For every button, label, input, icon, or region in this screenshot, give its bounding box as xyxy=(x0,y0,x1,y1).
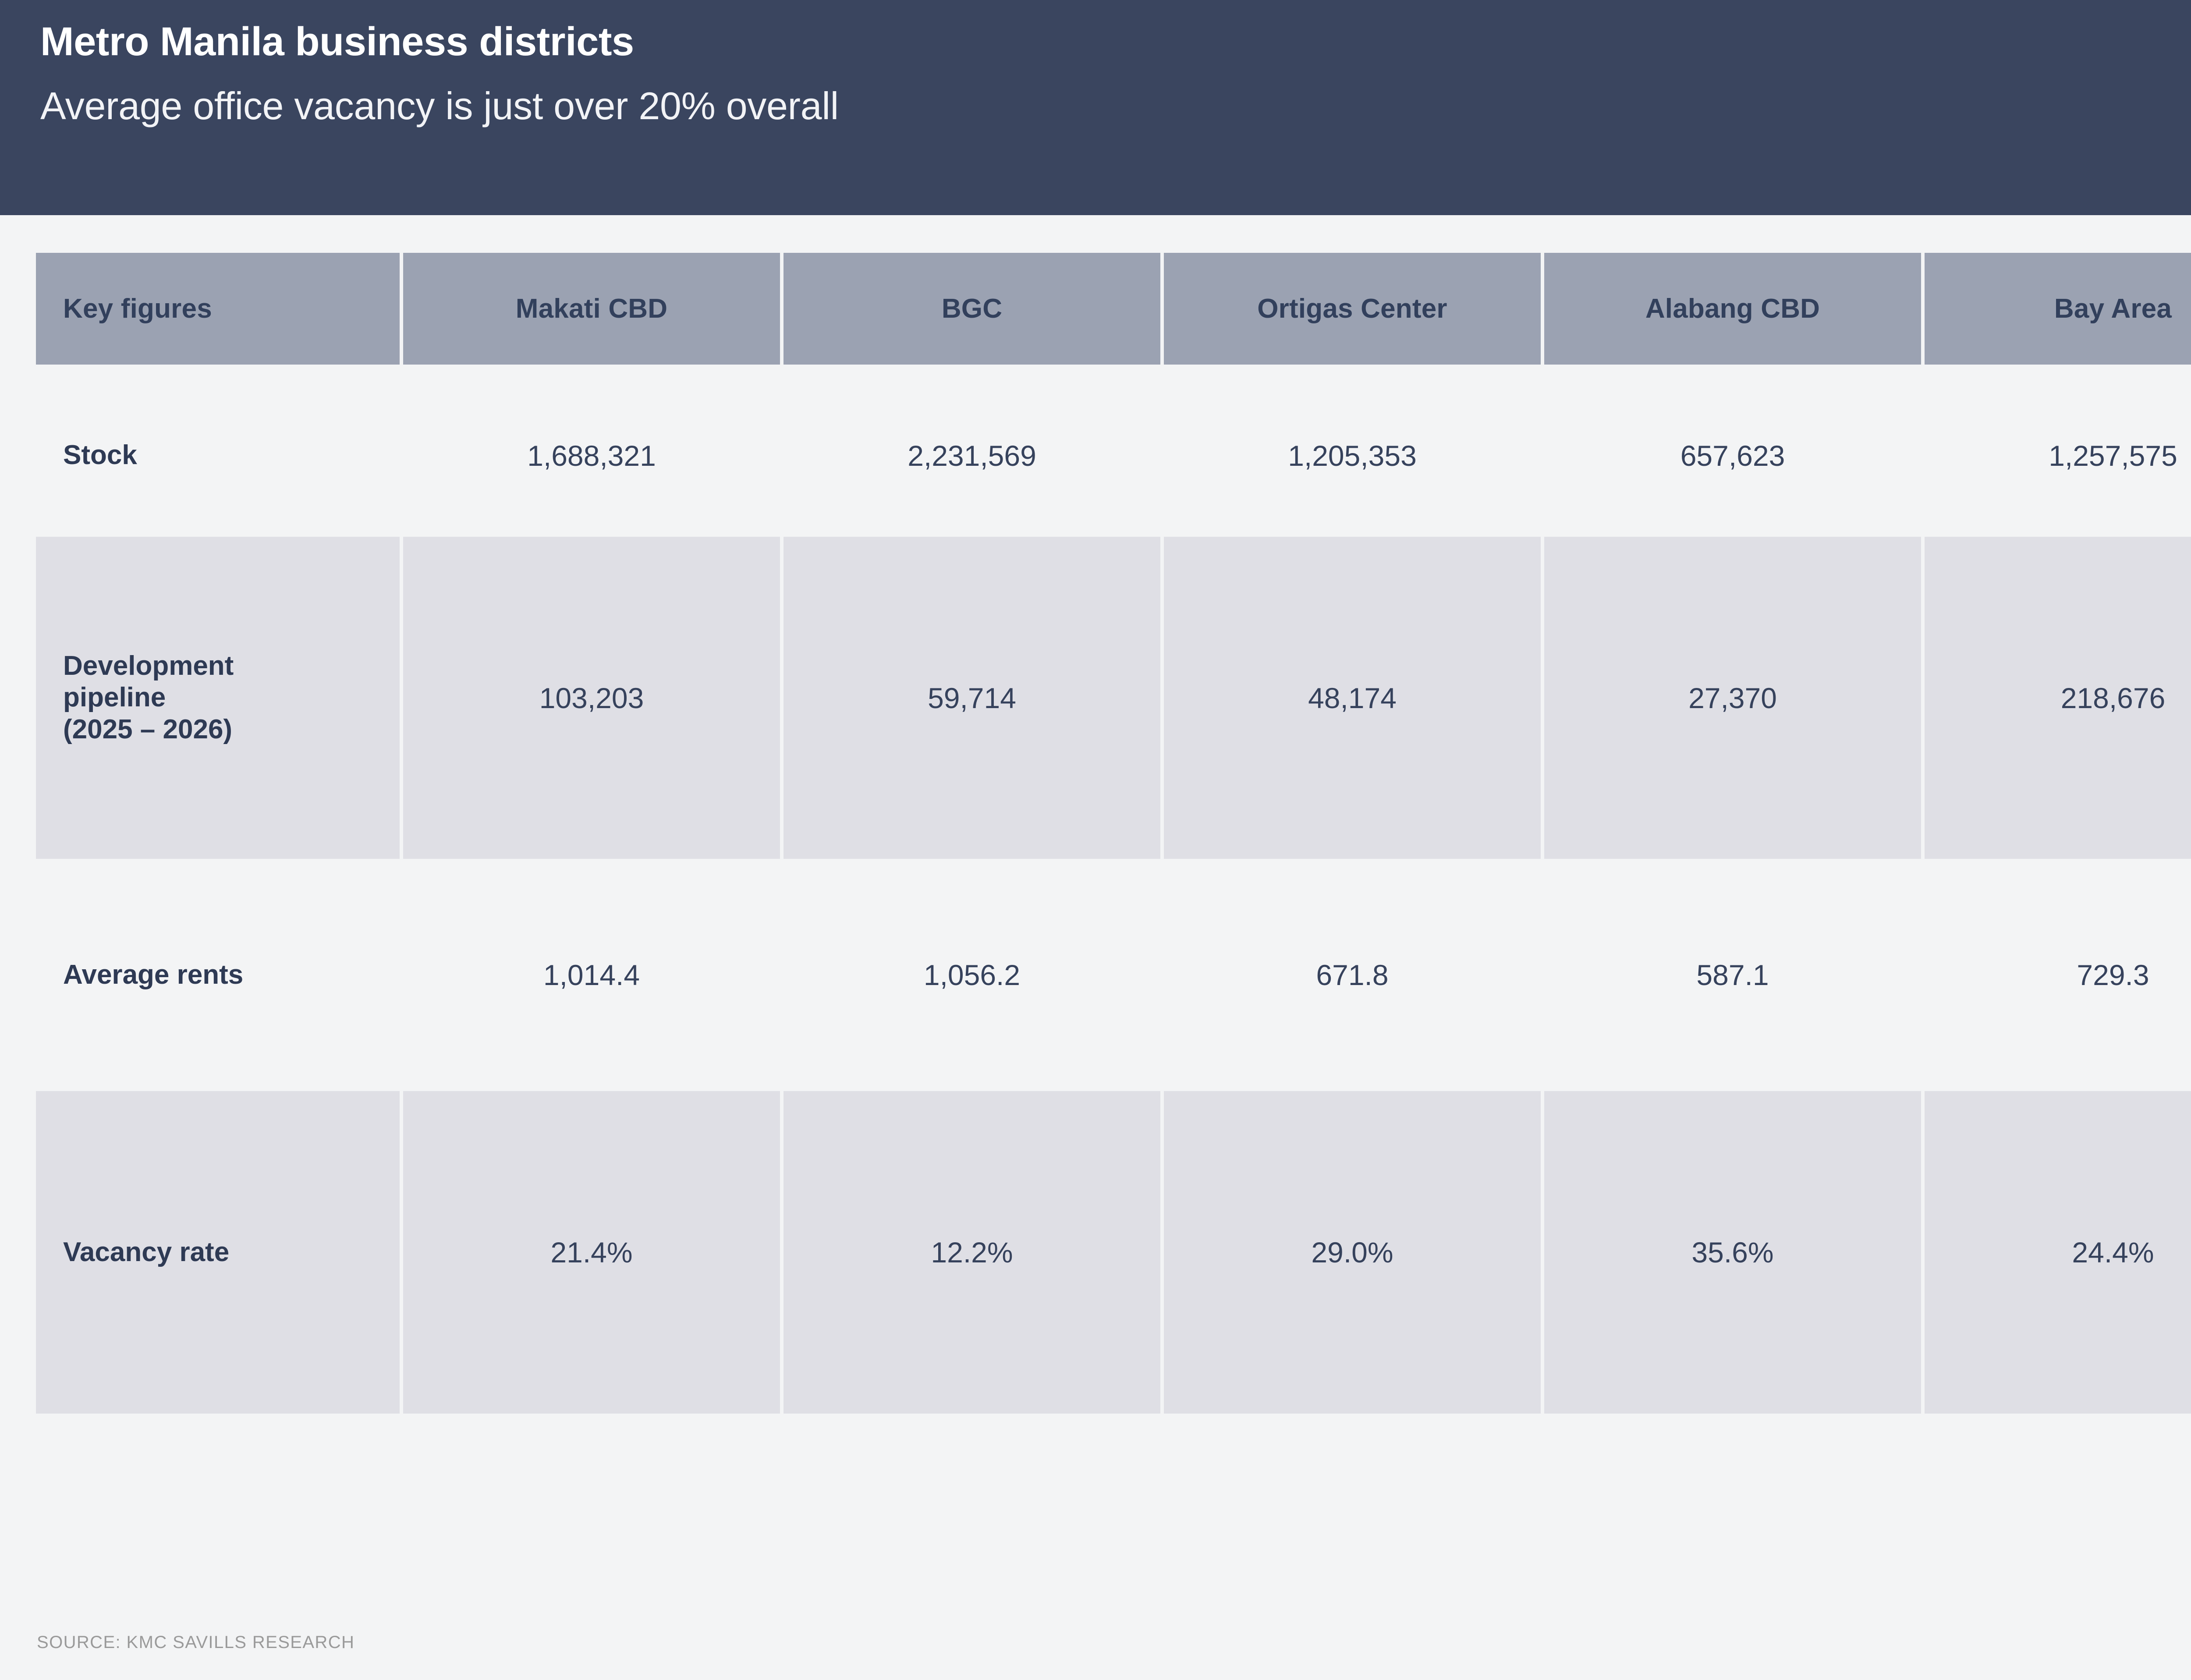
cell-stock-bgc: 2,231,569 xyxy=(784,374,1160,537)
row-label-line: pipeline xyxy=(63,682,400,714)
column-header-alabang-cbd: Alabang CBD xyxy=(1544,253,1921,365)
cell-pipeline-bgc: 59,714 xyxy=(784,537,1160,859)
column-header-ortigas-center: Ortigas Center xyxy=(1164,253,1541,365)
row-label-line: Vacancy rate xyxy=(63,1237,400,1269)
cell-pipeline-alabang-cbd: 27,370 xyxy=(1544,537,1921,859)
cell-vacancy-bgc: 12.2% xyxy=(784,1091,1160,1414)
table-header: Key figures Makati CBD BGC Ortigas Cente… xyxy=(36,253,2191,365)
row-label-line: Development xyxy=(63,650,400,682)
column-header-makati-cbd: Makati CBD xyxy=(403,253,780,365)
row-label-line: (2025 – 2026) xyxy=(63,714,400,746)
row-label-vacancy-rate: Vacancy rate xyxy=(36,1091,400,1414)
column-header-bgc: BGC xyxy=(784,253,1160,365)
key-figures-table-wrap: Key figures Makati CBD BGC Ortigas Cente… xyxy=(36,253,2191,1619)
table-row: Average rents 1,014.4 1,056.2 671.8 587.… xyxy=(36,859,2191,1091)
cell-vacancy-bay-area: 24.4% xyxy=(1925,1091,2191,1414)
column-header-key-figures: Key figures xyxy=(36,253,400,365)
row-label-average-rents: Average rents xyxy=(36,859,400,1091)
row-label-stock: Stock xyxy=(36,374,400,537)
cell-rents-bay-area: 729.3 xyxy=(1925,859,2191,1091)
cell-stock-makati-cbd: 1,688,321 xyxy=(403,374,780,537)
cell-rents-makati-cbd: 1,014.4 xyxy=(403,859,780,1091)
table-row: Development pipeline (2025 – 2026) 103,2… xyxy=(36,537,2191,859)
cell-stock-bay-area: 1,257,575 xyxy=(1925,374,2191,537)
row-label-line: Average rents xyxy=(63,959,400,991)
gap-cell xyxy=(1925,365,2191,374)
gap-cell xyxy=(1164,365,1541,374)
gap-cell xyxy=(403,365,780,374)
key-figures-table: Key figures Makati CBD BGC Ortigas Cente… xyxy=(32,253,2191,1414)
table-row: Vacancy rate 21.4% 12.2% 29.0% 35.6% 24.… xyxy=(36,1091,2191,1414)
row-label-line: Stock xyxy=(63,439,400,471)
gap-cell xyxy=(36,365,400,374)
row-label-development-pipeline: Development pipeline (2025 – 2026) xyxy=(36,537,400,859)
table-row: Stock 1,688,321 2,231,569 1,205,353 657,… xyxy=(36,374,2191,537)
cell-vacancy-alabang-cbd: 35.6% xyxy=(1544,1091,1921,1414)
infographic-page: Metro Manila business districts Average … xyxy=(0,0,2191,1680)
cell-pipeline-ortigas-center: 48,174 xyxy=(1164,537,1541,859)
table-header-row: Key figures Makati CBD BGC Ortigas Cente… xyxy=(36,253,2191,365)
cell-stock-alabang-cbd: 657,623 xyxy=(1544,374,1921,537)
cell-stock-ortigas-center: 1,205,353 xyxy=(1164,374,1541,537)
cell-rents-ortigas-center: 671.8 xyxy=(1164,859,1541,1091)
cell-rents-bgc: 1,056.2 xyxy=(784,859,1160,1091)
page-title: Metro Manila business districts xyxy=(40,20,634,64)
page-subtitle: Average office vacancy is just over 20% … xyxy=(40,85,839,128)
cell-vacancy-makati-cbd: 21.4% xyxy=(403,1091,780,1414)
cell-pipeline-makati-cbd: 103,203 xyxy=(403,537,780,859)
table-header-gap xyxy=(36,365,2191,374)
table-body: Stock 1,688,321 2,231,569 1,205,353 657,… xyxy=(36,365,2191,1414)
gap-cell xyxy=(1544,365,1921,374)
column-header-bay-area: Bay Area xyxy=(1925,253,2191,365)
header-band: Metro Manila business districts Average … xyxy=(0,0,2191,215)
source-note: SOURCE: KMC SAVILLS RESEARCH xyxy=(37,1633,355,1652)
cell-vacancy-ortigas-center: 29.0% xyxy=(1164,1091,1541,1414)
cell-rents-alabang-cbd: 587.1 xyxy=(1544,859,1921,1091)
cell-pipeline-bay-area: 218,676 xyxy=(1925,537,2191,859)
gap-cell xyxy=(784,365,1160,374)
